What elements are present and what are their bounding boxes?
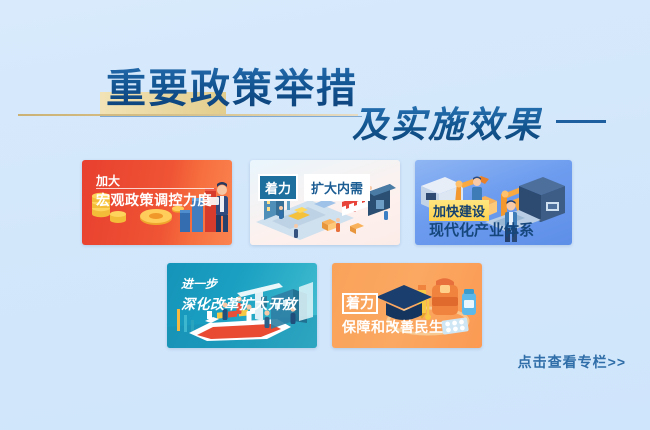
card-2-top-label: 着力 [258, 174, 298, 201]
isometric-city-shopping-street-icon [250, 160, 400, 245]
card-1-top-label: 加大 [96, 172, 120, 189]
card-4-top-label: 进一步 [181, 275, 217, 292]
card-3-top-label: 加快建设 [429, 200, 489, 221]
card-5-main-label: 保障和改善民生 [342, 317, 444, 337]
card-2-main-label: 扩大内需 [304, 174, 370, 201]
view-column-link[interactable]: 点击查看专栏>> [518, 352, 626, 372]
title-blue-rule [100, 116, 362, 117]
page-title-line-2: 及实施效果 [352, 96, 542, 148]
banner-title-block: 重要政策举措 及实施效果 [0, 52, 650, 152]
policy-card-livelihood[interactable]: 着力 保障和改善民生 [332, 263, 482, 348]
title-tail-dash [556, 120, 606, 123]
policy-banner: 重要政策举措 及实施效果 [0, 0, 650, 430]
card-5-top-label-group: 着力 [342, 293, 378, 314]
policy-card-reform-opening[interactable]: 进一步 深化改革扩大开放 [167, 263, 317, 348]
card-1-main-label: 宏观政策调控力度 [96, 190, 212, 210]
card-5-top-label: 着力 [342, 293, 378, 314]
policy-card-macro-control[interactable]: 加大 宏观政策调控力度 [82, 160, 232, 245]
page-title-line-1: 重要政策举措 [106, 56, 358, 114]
policy-card-modern-industry[interactable]: 加快建设 现代化产业体系 [415, 160, 572, 245]
card-3-main-label: 现代化产业体系 [429, 219, 534, 240]
policy-card-expand-demand[interactable]: 着力 扩大内需 [250, 160, 400, 245]
card-4-main-label: 深化改革扩大开放 [181, 294, 297, 314]
